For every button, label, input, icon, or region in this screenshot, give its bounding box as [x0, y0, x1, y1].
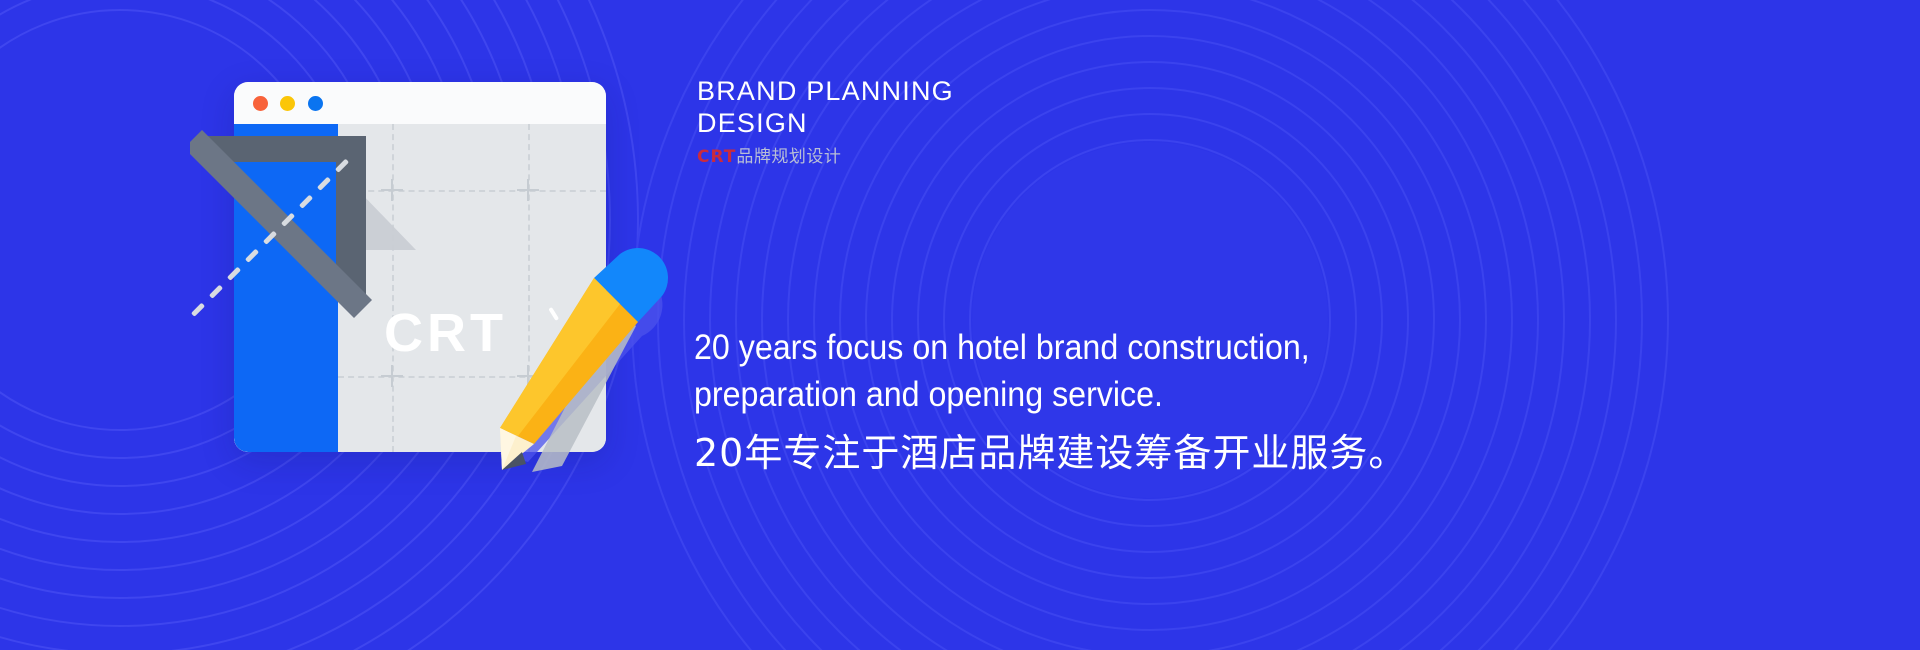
design-illustration: CRT [190, 70, 690, 490]
minimize-dot-icon [280, 96, 295, 111]
headline-chinese: 品牌规划设计 [736, 147, 841, 167]
guide-crosshair-icon [517, 179, 539, 201]
guide-crosshair-icon [381, 365, 403, 387]
tagline-english: 20 years focus on hotel brand constructi… [694, 325, 1522, 418]
tagline-chinese: 20年专注于酒店品牌建设筹备开业服务。 [694, 430, 1594, 478]
maximize-dot-icon [308, 96, 323, 111]
brand-planning-banner: CRT [0, 0, 1920, 650]
headline-subtitle: CRT品牌规划设计 [697, 146, 1457, 168]
headline-abbr: CRT [697, 147, 736, 167]
headline-block: BRAND PLANNING DESIGN CRT品牌规划设计 [697, 76, 1457, 168]
browser-titlebar [234, 82, 606, 124]
pencil-icon [470, 230, 690, 480]
tagline-block: 20 years focus on hotel brand constructi… [694, 325, 1594, 478]
headline-english: BRAND PLANNING DESIGN [697, 76, 1457, 140]
set-square-ruler-icon [190, 128, 420, 368]
close-dot-icon [253, 96, 268, 111]
